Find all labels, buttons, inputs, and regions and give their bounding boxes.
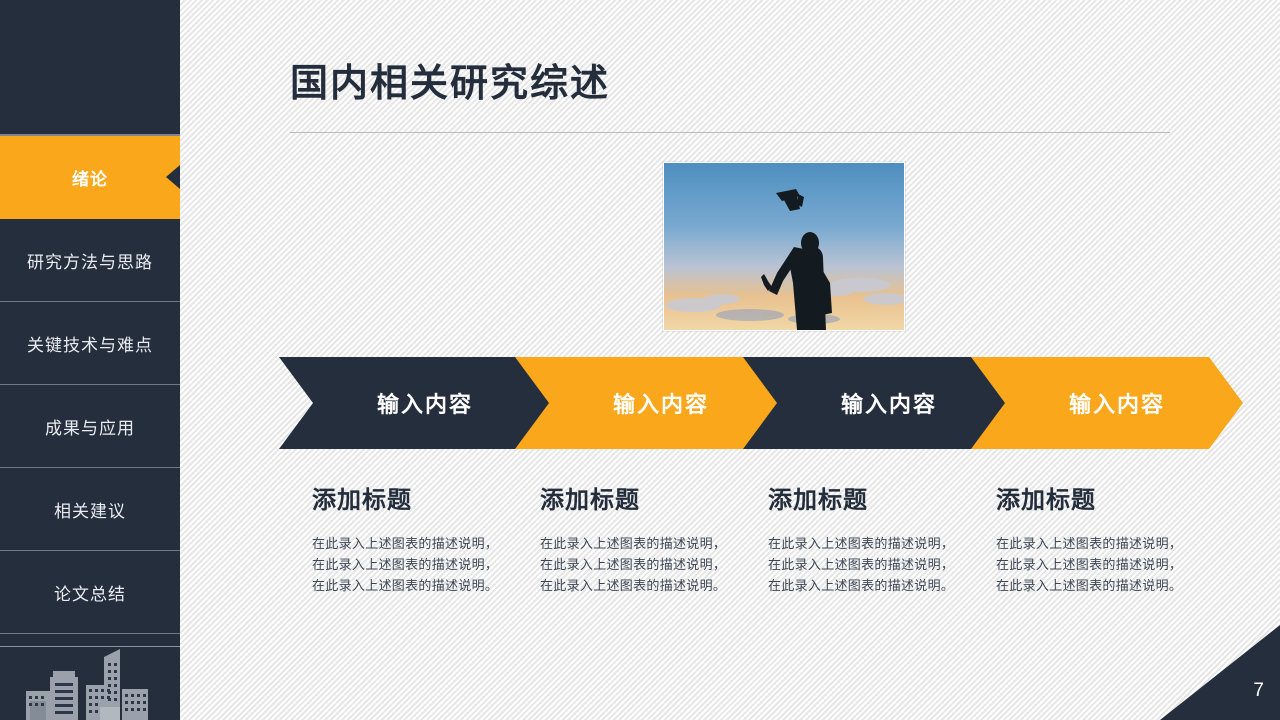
page-number-corner: 7 [1160, 625, 1280, 720]
column-4: 添加标题 在此录入上述图表的描述说明，在此录入上述图表的描述说明，在此录入上述图… [996, 480, 1186, 596]
sidebar-item-label: 研究方法与思路 [27, 248, 153, 273]
column-4-body: 在此录入上述图表的描述说明，在此录入上述图表的描述说明，在此录入上述图表的描述说… [996, 533, 1186, 596]
sidebar-item-suggestions[interactable]: 相关建议 [0, 468, 180, 551]
sidebar-item-list: 绪论 研究方法与思路 关键技术与难点 成果与应用 相关建议 论文总结 [0, 136, 180, 634]
column-3-body: 在此录入上述图表的描述说明，在此录入上述图表的描述说明，在此录入上述图表的描述说… [768, 533, 958, 596]
chevron-step-3[interactable]: 输入内容 [743, 357, 1015, 449]
sidebar-navigation: 绪论 研究方法与思路 关键技术与难点 成果与应用 相关建议 论文总结 [0, 0, 180, 720]
sidebar-item-xulun[interactable]: 绪论 [0, 136, 180, 219]
title-divider [290, 132, 1170, 133]
chevron-process-banner: 输入内容 输入内容 输入内容 输入内容 [279, 357, 1233, 449]
column-4-title: 添加标题 [996, 480, 1186, 515]
sidebar-item-label: 绪论 [72, 165, 108, 190]
chevron-step-4[interactable]: 输入内容 [971, 357, 1243, 449]
presentation-slide: 绪论 研究方法与思路 关键技术与难点 成果与应用 相关建议 论文总结 [0, 0, 1280, 720]
graduation-photo [663, 162, 905, 331]
corner-triangle-shape [1160, 625, 1280, 720]
column-3: 添加标题 在此录入上述图表的描述说明，在此录入上述图表的描述说明，在此录入上述图… [768, 480, 958, 596]
column-1-title: 添加标题 [312, 480, 502, 515]
chevron-step-2-label: 输入内容 [593, 387, 709, 419]
chevron-step-1[interactable]: 输入内容 [279, 357, 551, 449]
chevron-step-2[interactable]: 输入内容 [515, 357, 787, 449]
description-columns: 添加标题 在此录入上述图表的描述说明，在此录入上述图表的描述说明，在此录入上述图… [312, 480, 1212, 640]
column-2: 添加标题 在此录入上述图表的描述说明，在此录入上述图表的描述说明，在此录入上述图… [540, 480, 730, 596]
column-1-body: 在此录入上述图表的描述说明，在此录入上述图表的描述说明，在此录入上述图表的描述说… [312, 533, 502, 596]
sidebar-item-label: 相关建议 [54, 497, 126, 522]
page-number: 7 [1253, 680, 1264, 702]
sidebar-item-label: 成果与应用 [45, 414, 135, 439]
active-pointer-icon [166, 165, 180, 189]
column-3-title: 添加标题 [768, 480, 958, 515]
chevron-step-1-label: 输入内容 [357, 387, 473, 419]
sidebar-item-methods[interactable]: 研究方法与思路 [0, 219, 180, 302]
page-title: 国内相关研究综述 [290, 52, 610, 107]
column-2-body: 在此录入上述图表的描述说明，在此录入上述图表的描述说明，在此录入上述图表的描述说… [540, 533, 730, 596]
sidebar-item-key-tech[interactable]: 关键技术与难点 [0, 302, 180, 385]
city-skyline-icon [0, 646, 180, 720]
chevron-step-4-label: 输入内容 [1049, 387, 1165, 419]
sidebar-item-conclusion[interactable]: 论文总结 [0, 551, 180, 634]
sidebar-item-label: 论文总结 [54, 580, 126, 605]
column-2-title: 添加标题 [540, 480, 730, 515]
sidebar-item-results[interactable]: 成果与应用 [0, 385, 180, 468]
sidebar-item-label: 关键技术与难点 [27, 331, 153, 356]
chevron-step-3-label: 输入内容 [821, 387, 937, 419]
sidebar-header-block [0, 0, 180, 136]
column-1: 添加标题 在此录入上述图表的描述说明，在此录入上述图表的描述说明，在此录入上述图… [312, 480, 502, 596]
